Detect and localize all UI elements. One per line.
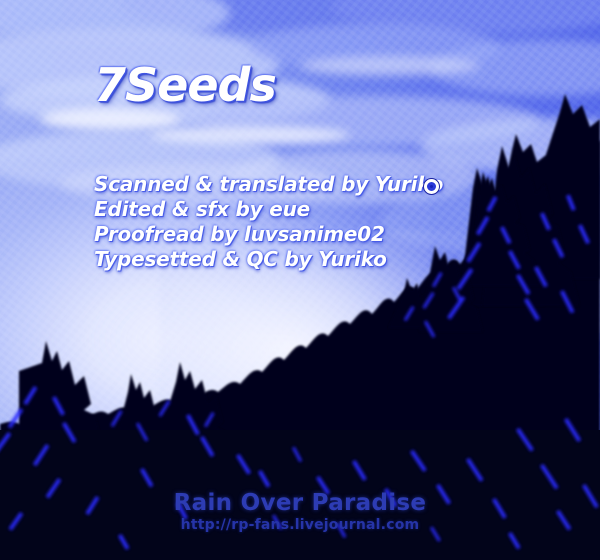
watermark: Rain Over Paradise http://rp-fans.livejo… bbox=[0, 490, 600, 534]
cursor-dot-icon bbox=[424, 179, 439, 194]
credit-line: Scanned & translated by Yuriko bbox=[94, 172, 443, 197]
scanlation-credit-page: 7Seeds Scanned & translated by Yuriko Ed… bbox=[0, 0, 600, 560]
credit-line: Edited & sfx by eue bbox=[94, 197, 443, 222]
credits-list: Scanned & translated by Yuriko Edited & … bbox=[94, 172, 443, 272]
forest-silhouette bbox=[0, 0, 600, 560]
group-name: Rain Over Paradise bbox=[0, 490, 600, 516]
credit-line: Proofread by luvsanime02 bbox=[94, 222, 443, 247]
credit-line: Typesetted & QC by Yuriko bbox=[94, 247, 443, 272]
page-title: 7Seeds bbox=[94, 58, 276, 112]
group-url[interactable]: http://rp-fans.livejournal.com bbox=[0, 516, 600, 534]
